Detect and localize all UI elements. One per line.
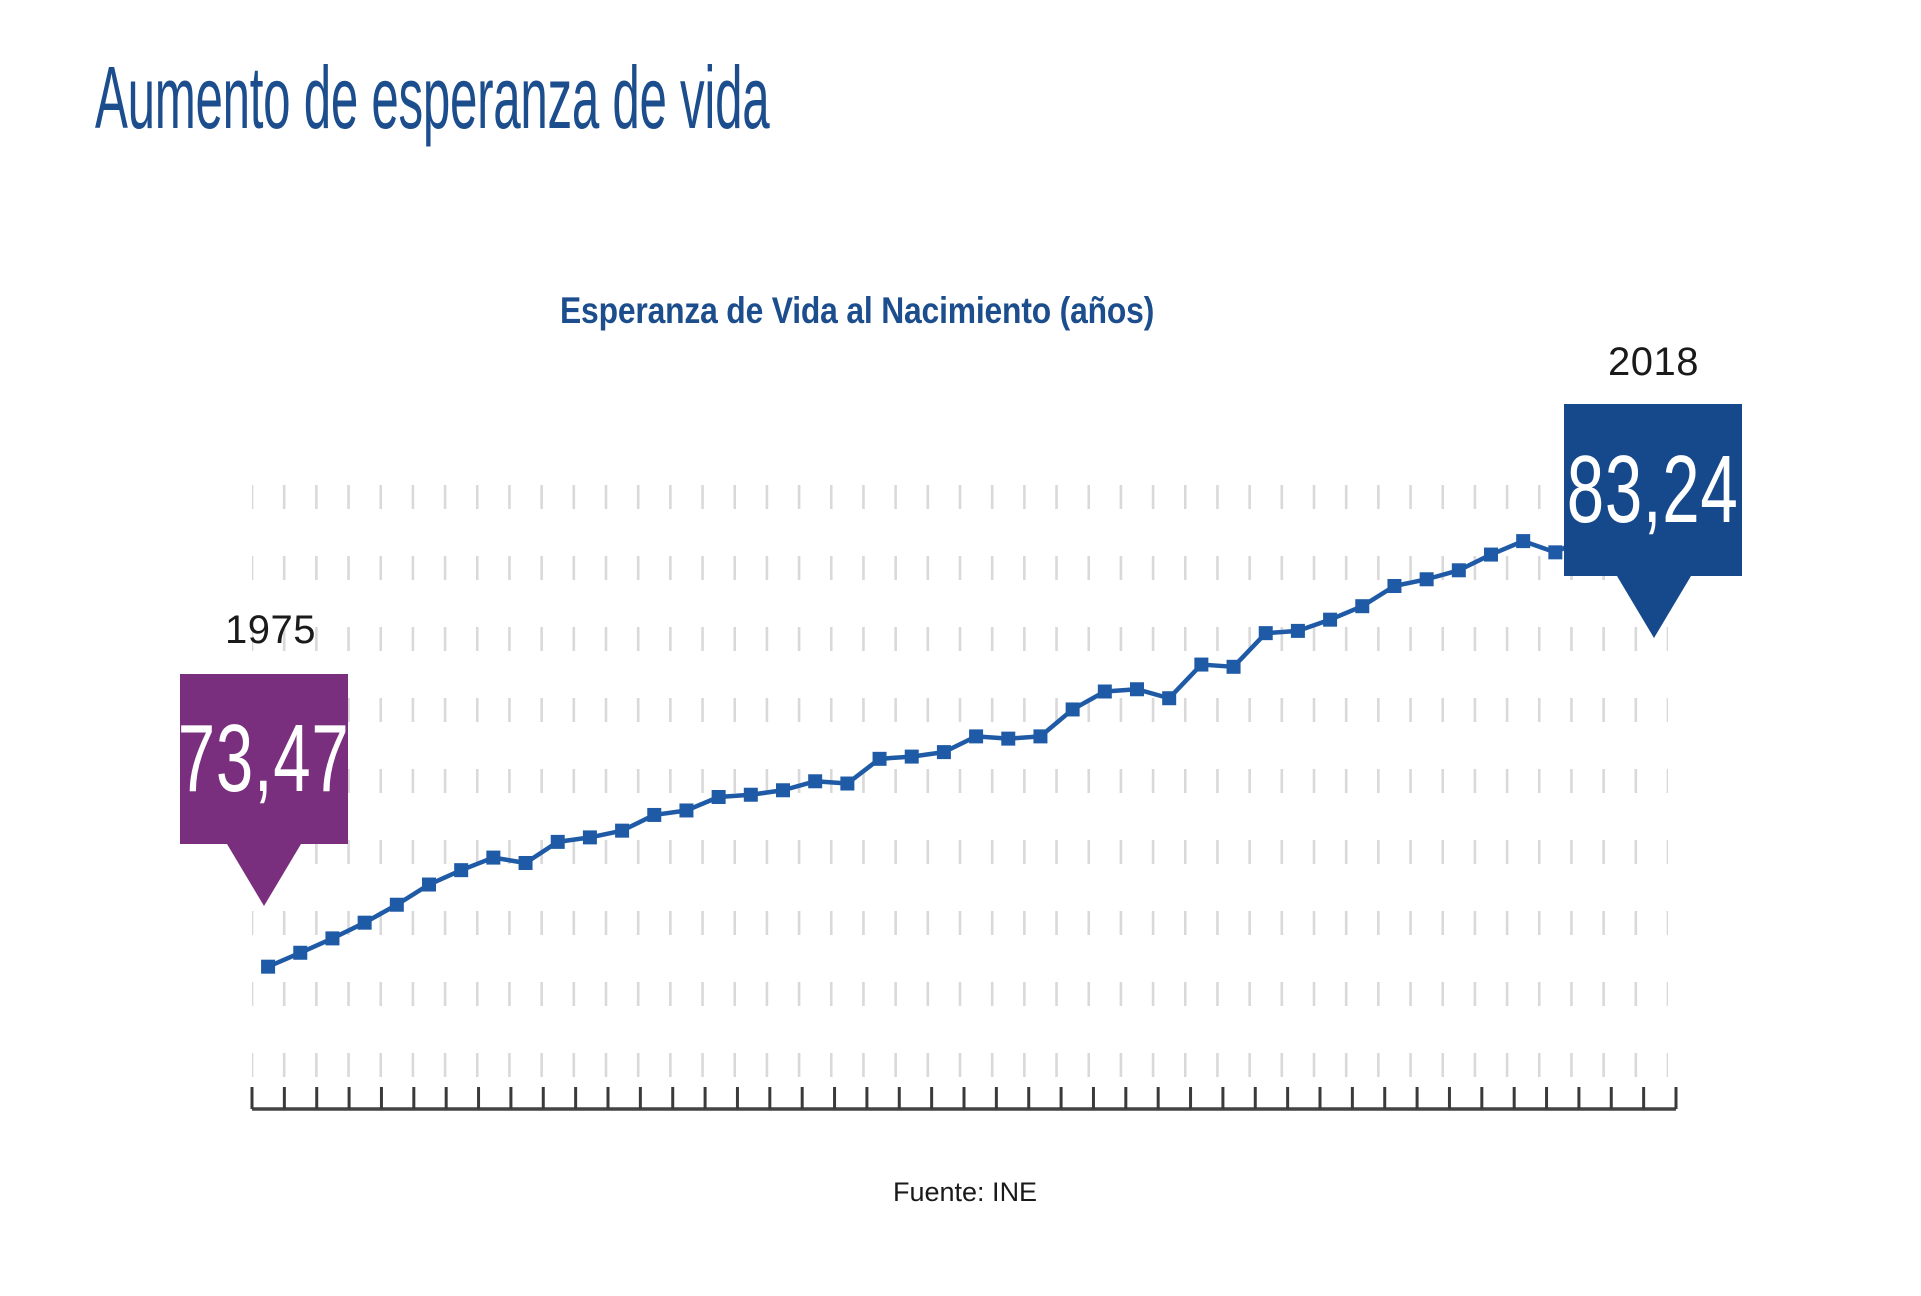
end-callout-box: 83,24 [1564,404,1742,576]
start-callout-value: 73,47 [178,711,350,807]
source-note: Fuente: INE [893,1177,1037,1208]
end-callout-year: 2018 [1608,340,1699,385]
start-callout-pointer [227,844,301,906]
chart-x-axis [244,1078,1684,1118]
start-callout-box: 73,47 [180,674,348,844]
chart-subtitle: Esperanza de Vida al Nacimiento (años) [560,290,1154,332]
end-callout-pointer [1617,576,1691,638]
chart-plot-area [252,485,1668,1100]
start-callout-year: 1975 [225,608,316,653]
end-callout-value: 83,24 [1567,442,1739,538]
page-title: Aumento de esperanza de vida [95,48,769,148]
chart-series-line [252,485,1668,1100]
